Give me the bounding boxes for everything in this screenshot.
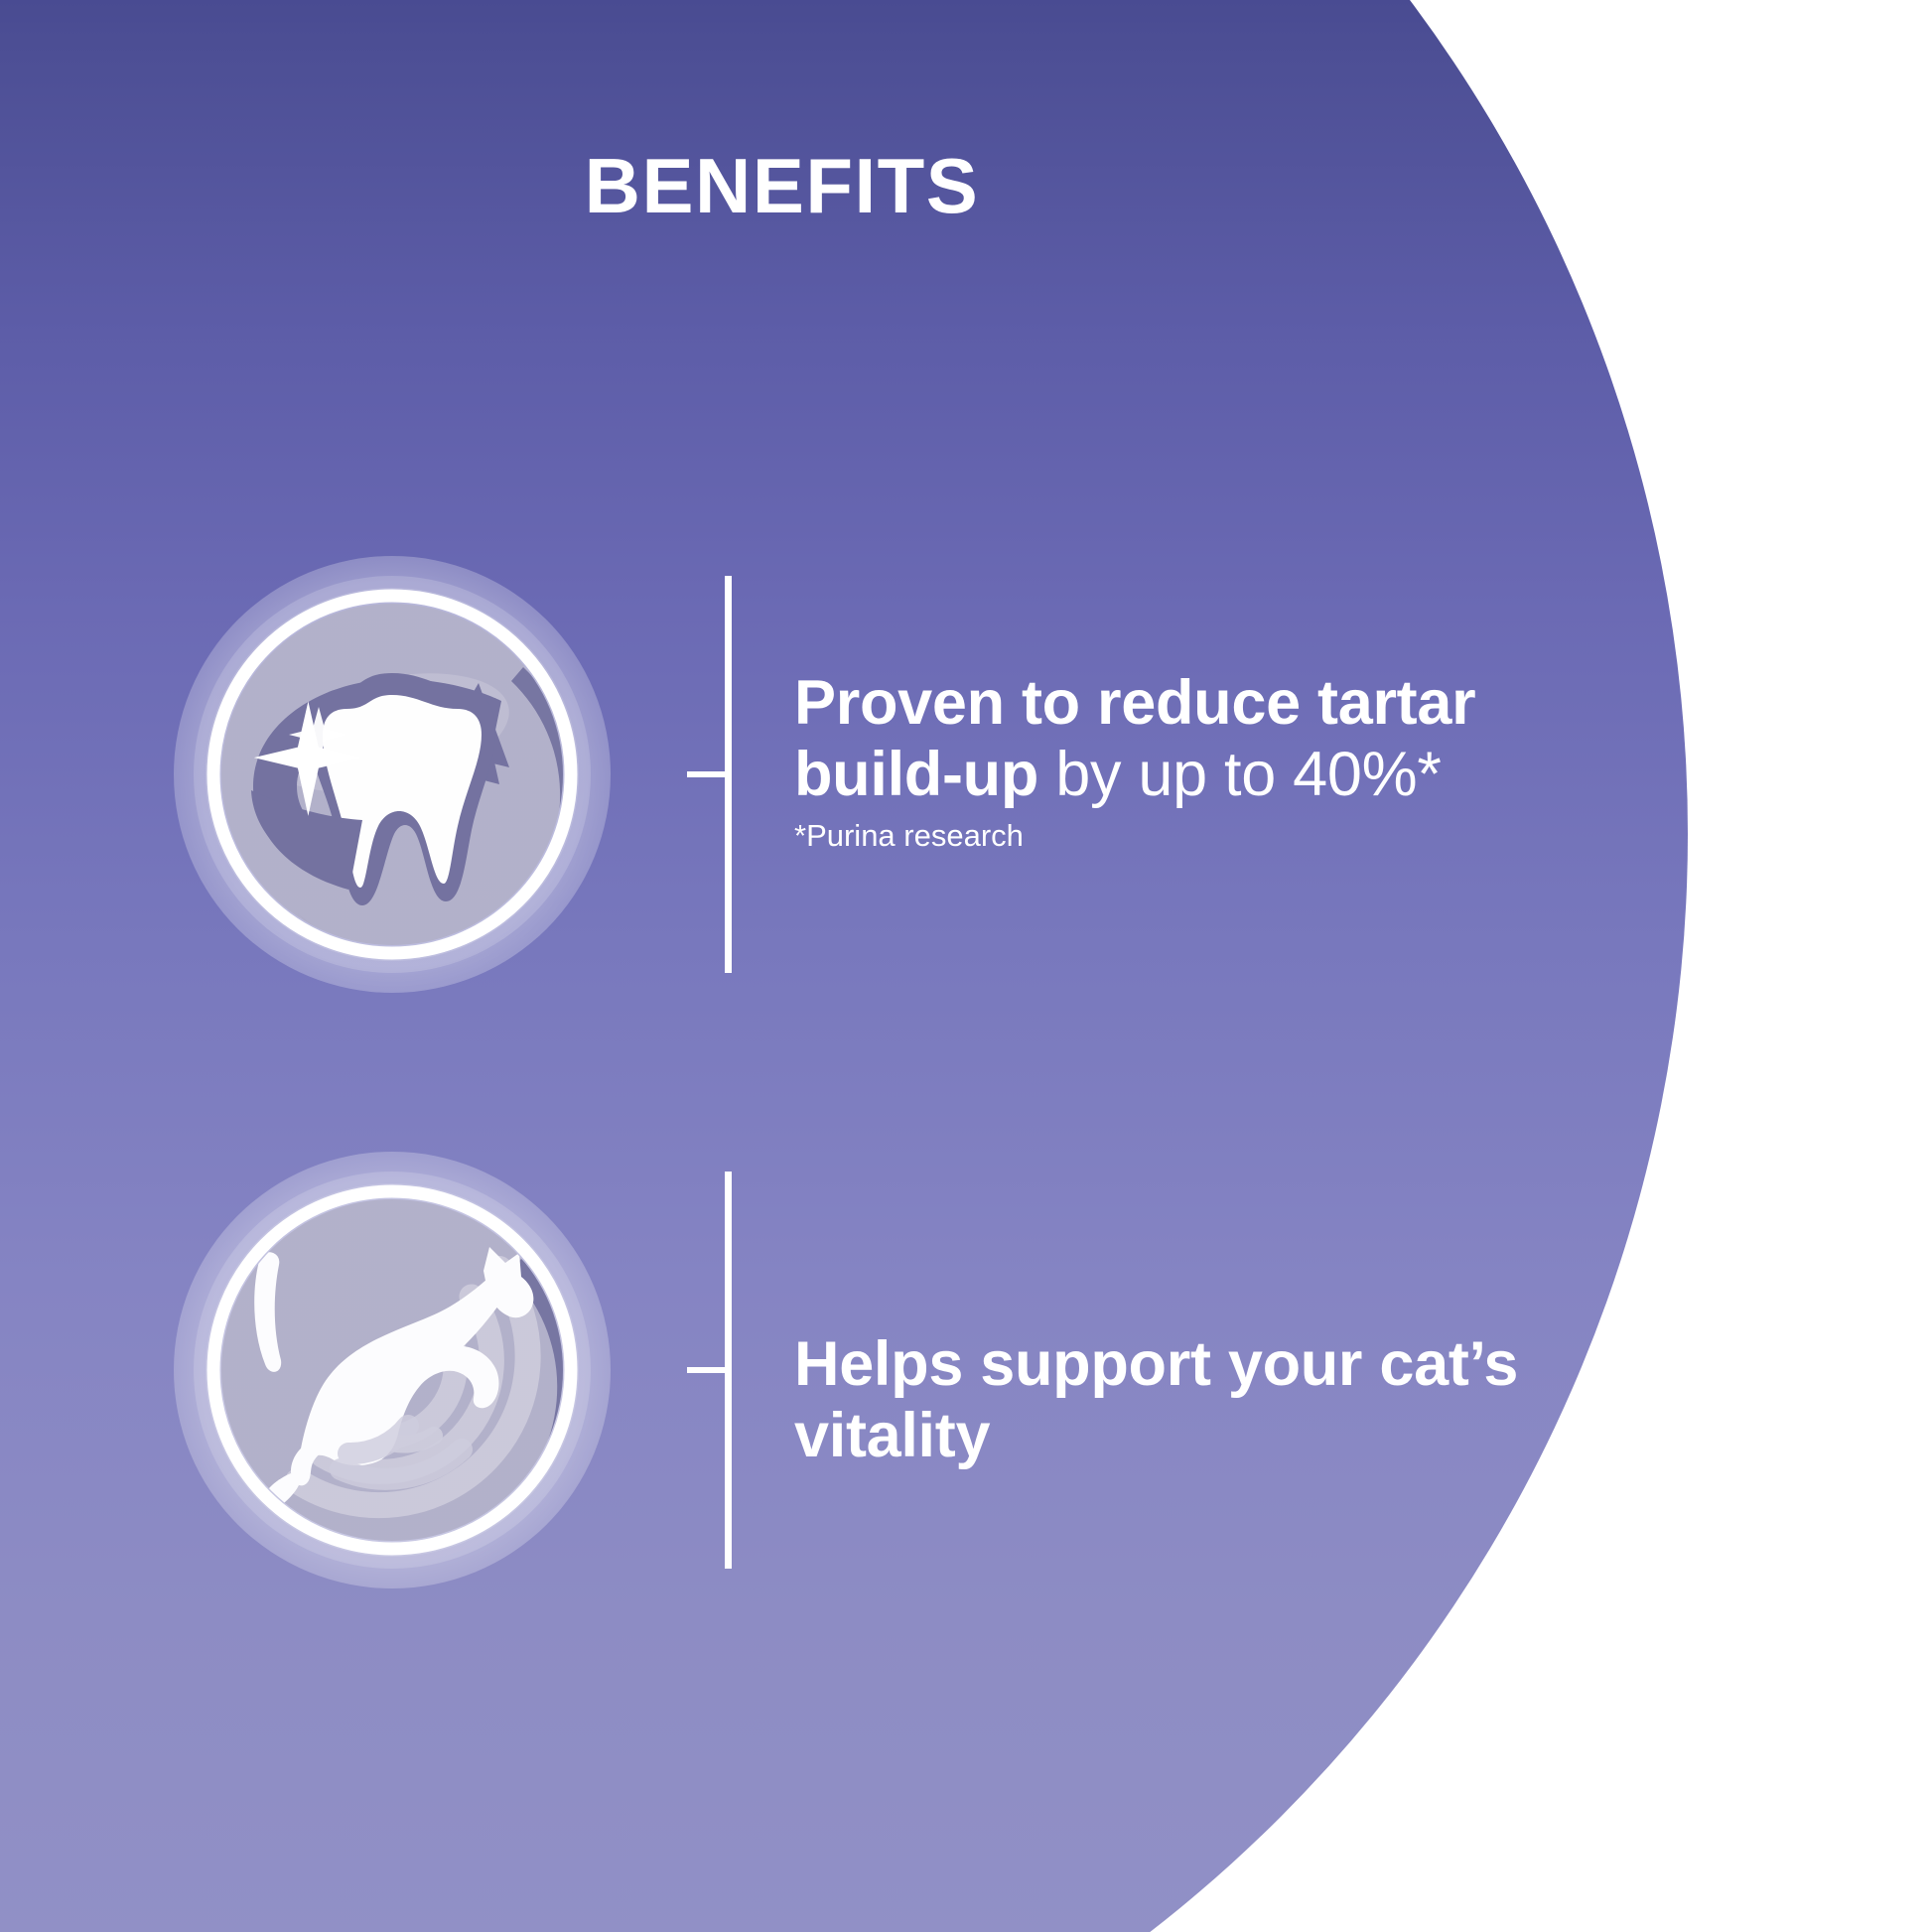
benefit-text-block: Helps support your cat’s vitality [794, 1328, 1569, 1472]
benefit-footnote: *Purina research [794, 819, 1569, 853]
leaping-cat-vitality-icon [174, 1152, 611, 1588]
tooth-sparkle-icon [174, 556, 611, 993]
icon-glow [174, 556, 611, 993]
divider-tick [687, 771, 732, 777]
benefit-headline: Helps support your cat’s vitality [794, 1328, 1569, 1472]
divider-tick [687, 1367, 732, 1373]
icon-glow [174, 1152, 611, 1588]
benefit-row: Proven to reduce tartar build-up by up t… [0, 556, 1588, 993]
content-layer: BENEFITS [0, 0, 1932, 1932]
benefits-panel: BENEFITS [0, 0, 1932, 1932]
benefit-row: Helps support your cat’s vitality [0, 1152, 1588, 1588]
benefit-headline-strong: Helps support your cat’s vitality [794, 1329, 1518, 1470]
benefit-headline-rest: by up to 40%* [1038, 740, 1442, 809]
benefit-text-block: Proven to reduce tartar build-up by up t… [794, 667, 1569, 853]
page-title: BENEFITS [0, 147, 1564, 224]
benefit-headline: Proven to reduce tartar build-up by up t… [794, 667, 1569, 811]
